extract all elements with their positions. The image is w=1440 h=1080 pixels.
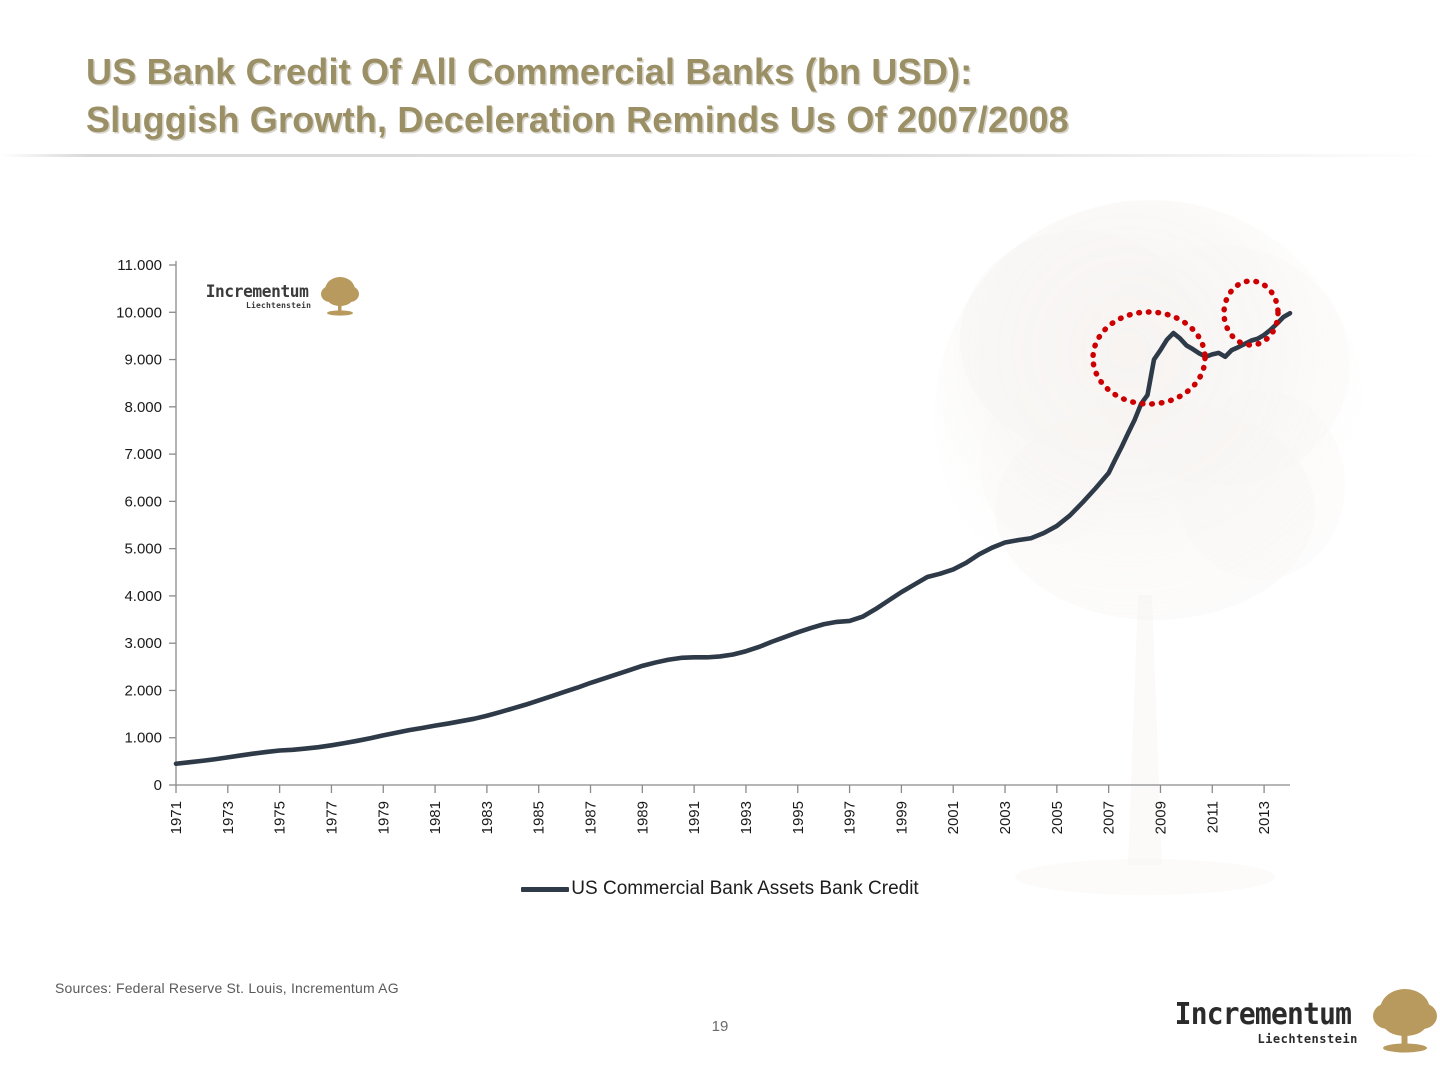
y-tick-label: 2.000: [124, 682, 162, 699]
y-tick-label: 5.000: [124, 541, 162, 558]
x-tick-label: 1995: [790, 801, 807, 834]
x-tick-label: 1993: [738, 801, 755, 834]
x-tick-label: 2013: [1256, 801, 1273, 834]
chart-axes: [169, 261, 1290, 793]
incrementum-logo-footer: Incrementum Liechtenstein: [1168, 985, 1440, 1059]
deceleration-2013-circle: [1224, 281, 1278, 345]
x-tick-label: 2011: [1204, 801, 1221, 833]
legend-label: US Commercial Bank Assets Bank Credit: [571, 878, 918, 900]
title-divider: [0, 154, 1440, 157]
y-tick-label: 4.000: [124, 588, 162, 605]
x-tick-label: 1991: [686, 801, 703, 834]
x-tick-label: 1999: [893, 801, 910, 834]
x-tick-label: 2009: [1152, 801, 1169, 834]
sources-note: Sources: Federal Reserve St. Louis, Incr…: [55, 980, 399, 996]
y-tick-label: 0: [154, 777, 162, 794]
x-tick-label: 1985: [531, 801, 548, 834]
x-tick-label: 1997: [842, 801, 859, 834]
x-tick-label: 1983: [479, 801, 496, 834]
footer-logo-name: Incrementum: [1175, 1000, 1352, 1030]
x-axis-tick-labels: 1971197319751977197919811983198519871989…: [168, 801, 1273, 834]
tree-icon: [1366, 985, 1440, 1059]
footer-logo-subtitle: Liechtenstein: [1257, 1033, 1357, 1045]
y-tick-label: 8.000: [124, 399, 162, 416]
x-tick-label: 2007: [1101, 801, 1118, 834]
x-tick-label: 2003: [997, 801, 1014, 834]
y-tick-label: 6.000: [124, 493, 162, 510]
x-tick-label: 1971: [168, 801, 185, 834]
series-line-bank-credit: [176, 313, 1290, 764]
y-axis-tick-labels: 01.0002.0003.0004.0005.0006.0007.0008.00…: [116, 257, 162, 794]
y-tick-label: 3.000: [124, 635, 162, 652]
x-tick-label: 2001: [945, 801, 962, 834]
y-tick-label: 9.000: [124, 352, 162, 369]
chart-container: Incrementum Liechtenstein 01.0002.0003.0…: [0, 165, 1440, 945]
x-tick-label: 1987: [583, 801, 600, 834]
x-tick-label: 1977: [323, 801, 340, 834]
line-chart: 01.0002.0003.0004.0005.0006.0007.0008.00…: [0, 165, 1440, 955]
x-tick-label: 1989: [634, 801, 651, 834]
y-tick-label: 11.000: [117, 257, 162, 274]
legend-swatch: [521, 887, 569, 892]
y-tick-label: 10.000: [116, 304, 162, 321]
chart-legend: US Commercial Bank Assets Bank Credit: [0, 878, 1440, 900]
page-title-line2: Sluggish Growth, Deceleration Reminds Us…: [86, 96, 1316, 144]
y-tick-label: 1.000: [124, 730, 162, 747]
page-title-line1: US Bank Credit Of All Commercial Banks (…: [86, 51, 972, 92]
x-tick-label: 1979: [375, 801, 392, 834]
page-title: US Bank Credit Of All Commercial Banks (…: [86, 48, 1316, 144]
y-tick-label: 7.000: [124, 446, 162, 463]
x-tick-label: 1975: [272, 801, 289, 834]
x-tick-label: 2005: [1049, 801, 1066, 834]
x-tick-label: 1981: [427, 801, 444, 834]
slide: US Bank Credit Of All Commercial Banks (…: [0, 0, 1440, 1080]
x-tick-label: 1973: [220, 801, 237, 834]
